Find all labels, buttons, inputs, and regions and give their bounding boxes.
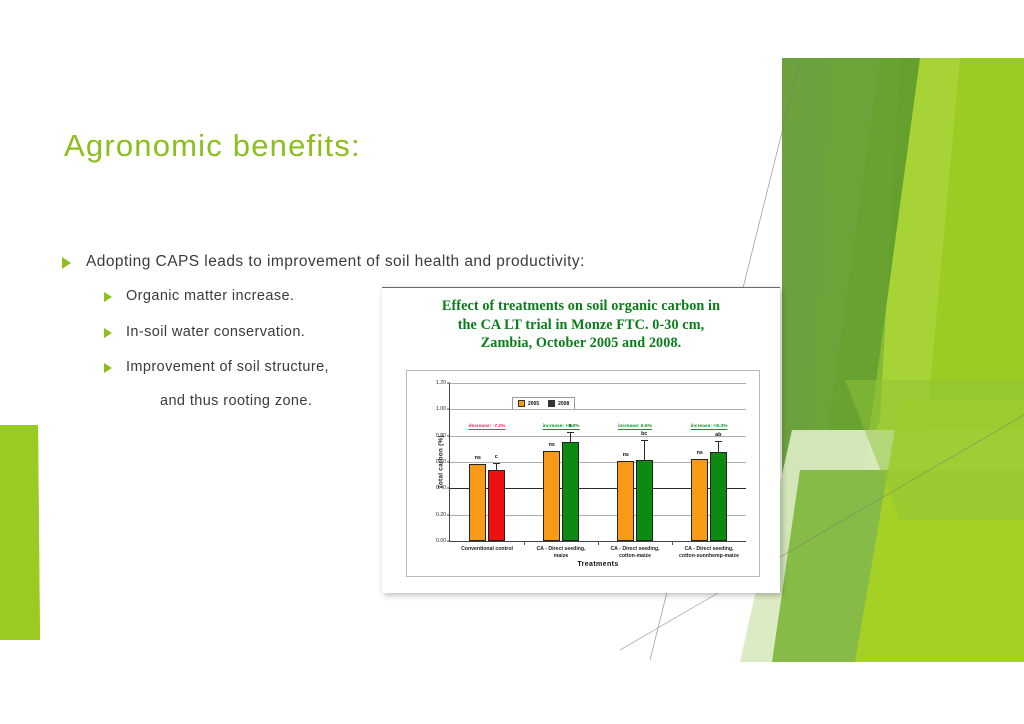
error-bar xyxy=(496,463,497,470)
chart-bar-group: nsaincrease: +9.8%CA - Direct seeding,ma… xyxy=(524,383,598,541)
chart-title-line-3: Zambia, October 2005 and 2008. xyxy=(396,334,766,353)
chart-panel: Effect of treatments on soil organic car… xyxy=(382,287,780,593)
error-bar-cap xyxy=(567,432,574,433)
y-axis-tick-label: 1.00 xyxy=(436,406,446,412)
y-axis-tick-label: 0.20 xyxy=(436,512,446,518)
x-axis-tick-label-line: CA - Direct seeding, xyxy=(666,546,752,553)
chart-bar xyxy=(617,461,634,541)
x-axis-label: Treatments xyxy=(577,561,618,568)
bullet-triangle-icon xyxy=(104,363,112,373)
error-bar xyxy=(570,432,571,442)
y-axis-tick-label: 0.00 xyxy=(436,538,446,544)
bullet-triangle-icon xyxy=(62,257,71,269)
chart-title: Effect of treatments on soil organic car… xyxy=(382,288,780,353)
chart-bar-group: nsabincrease: +8.3%CA - Direct seeding,c… xyxy=(672,383,746,541)
chart-bar xyxy=(636,460,653,541)
bullet-level1-text: Adopting CAPS leads to improvement of so… xyxy=(86,252,585,271)
chart-annotation: increase: 6.6% xyxy=(618,424,652,431)
bullet-triangle-icon xyxy=(104,328,112,338)
y-axis-tick-label: 0.40 xyxy=(436,485,446,491)
x-axis-group-separator xyxy=(524,541,525,545)
bar-significance-label: ab xyxy=(715,432,721,438)
x-axis-tick-label-line: cotton-sunnhemp-maize xyxy=(666,553,752,560)
bullet-level2-text: Organic matter increase. xyxy=(126,287,294,305)
chart-bar xyxy=(469,464,486,541)
bar-significance-label: ns xyxy=(623,452,629,458)
bullet-triangle-icon xyxy=(104,292,112,302)
error-bar-cap xyxy=(715,441,722,442)
bullet-level2-text: In-soil water conservation. xyxy=(126,323,305,341)
bar-significance-label: c xyxy=(495,454,498,460)
bar-significance-label: ns xyxy=(549,442,555,448)
bar-significance-label: ns xyxy=(697,450,703,456)
y-axis-tick-label: 0.80 xyxy=(436,433,446,439)
y-axis-tick-label: 0.60 xyxy=(436,459,446,465)
x-axis-group-separator xyxy=(598,541,599,545)
chart-plot-frame: Total carbon (%) Treatments 2005 2008 0.… xyxy=(406,370,760,577)
error-bar-cap xyxy=(493,463,500,464)
chart-title-line-1: Effect of treatments on soil organic car… xyxy=(396,297,766,316)
chart-bar xyxy=(710,452,727,541)
chart-annotation: increase: +9.8% xyxy=(543,424,580,431)
error-bar-cap xyxy=(641,440,648,441)
y-axis-tick-label: 1.20 xyxy=(436,380,446,386)
chart-annotation: increase: +8.3% xyxy=(691,424,728,431)
chart-annotation: decrease: -7.2% xyxy=(469,424,506,431)
page-title: Agronomic benefits: xyxy=(64,128,361,164)
chart-title-line-2: the CA LT trial in Monze FTC. 0-30 cm, xyxy=(396,316,766,335)
chart-bar xyxy=(488,470,505,541)
error-bar xyxy=(718,441,719,451)
chart-plot-area: Total carbon (%) Treatments 2005 2008 0.… xyxy=(449,383,746,542)
bullet-level2-text: Improvement of soil structure, xyxy=(126,358,329,376)
bar-significance-label: bc xyxy=(641,431,647,437)
chart-bar-group: nsbcincrease: 6.6%CA - Direct seeding,co… xyxy=(598,383,672,541)
x-axis-tick-label: CA - Direct seeding,cotton-sunnhemp-maiz… xyxy=(666,546,752,560)
bullet-item-level1: Adopting CAPS leads to improvement of so… xyxy=(62,252,482,271)
chart-bar-group: nscdecrease: -7.2%Conventional control xyxy=(450,383,524,541)
chart-bar xyxy=(562,442,579,541)
presentation-slide: Agronomic benefits: Adopting CAPS leads … xyxy=(0,0,1024,724)
bar-significance-label: ns xyxy=(475,455,481,461)
error-bar xyxy=(644,440,645,460)
chart-bar xyxy=(543,451,560,541)
x-axis-group-separator xyxy=(672,541,673,545)
chart-bar xyxy=(691,459,708,541)
